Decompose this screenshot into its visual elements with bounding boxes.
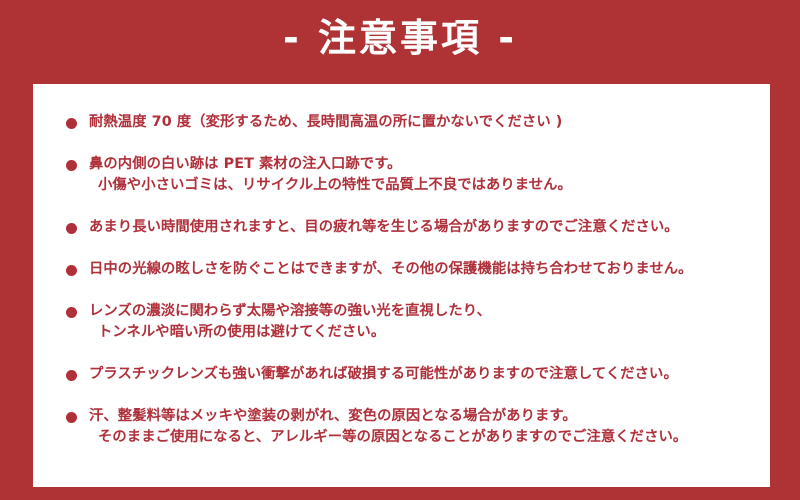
notice-line: トンネルや暗い所の使用は避けてください。 (98, 322, 758, 343)
notice-list: 耐熱温度 70 度（変形するため、長時間高温の所に置かないでください ) 鼻の内… (66, 112, 758, 448)
filled-circle-bullet-icon (66, 160, 77, 171)
filled-circle-bullet-icon (66, 118, 77, 129)
notice-line: そのままご使用になると、アレルギー等の原因となることがありますのでご注意ください… (98, 427, 758, 448)
notice-line: 日中の光線の眩しさを防ぐことはできますが、その他の保護機能は持ち合わせておりませ… (89, 259, 758, 280)
list-item: 鼻の内側の白い跡は PET 素材の注入口跡です。 小傷や小さいゴミは、リサイクル… (66, 154, 758, 196)
notice-line: プラスチックレンズも強い衝撃があれば破損する可能性がありますので注意してください… (89, 364, 758, 385)
filled-circle-bullet-icon (66, 412, 77, 423)
page-title: - 注意事項 - (0, 12, 800, 64)
list-item: プラスチックレンズも強い衝撃があれば破損する可能性がありますので注意してください… (66, 364, 758, 385)
filled-circle-bullet-icon (66, 265, 77, 276)
notice-card: - 注意事項 - 耐熱温度 70 度（変形するため、長時間高温の所に置かないでく… (0, 0, 800, 500)
notice-line: 小傷や小さいゴミは、リサイクル上の特性で品質上不良ではありません。 (98, 175, 758, 196)
filled-circle-bullet-icon (66, 370, 77, 381)
notice-line: 汗、整髪料等はメッキや塗装の剥がれ、変色の原因となる場合があります。 (89, 406, 758, 427)
list-item: 耐熱温度 70 度（変形するため、長時間高温の所に置かないでください ) (66, 112, 758, 133)
list-item: 日中の光線の眩しさを防ぐことはできますが、その他の保護機能は持ち合わせておりませ… (66, 259, 758, 280)
list-item: 汗、整髪料等はメッキや塗装の剥がれ、変色の原因となる場合があります。 そのままご… (66, 406, 758, 448)
filled-circle-bullet-icon (66, 307, 77, 318)
notice-line: 耐熱温度 70 度（変形するため、長時間高温の所に置かないでください ) (89, 112, 758, 133)
notice-line: レンズの濃淡に関わらず太陽や溶接等の強い光を直視したり、 (89, 301, 758, 322)
list-item: レンズの濃淡に関わらず太陽や溶接等の強い光を直視したり、 トンネルや暗い所の使用… (66, 301, 758, 343)
list-item: あまり長い時間使用されますと、目の疲れ等を生じる場合がありますのでご注意ください… (66, 217, 758, 238)
notice-line: あまり長い時間使用されますと、目の疲れ等を生じる場合がありますのでご注意ください… (89, 217, 758, 238)
filled-circle-bullet-icon (66, 223, 77, 234)
notice-panel: 耐熱温度 70 度（変形するため、長時間高温の所に置かないでください ) 鼻の内… (33, 84, 770, 487)
notice-line: 鼻の内側の白い跡は PET 素材の注入口跡です。 (89, 154, 758, 175)
